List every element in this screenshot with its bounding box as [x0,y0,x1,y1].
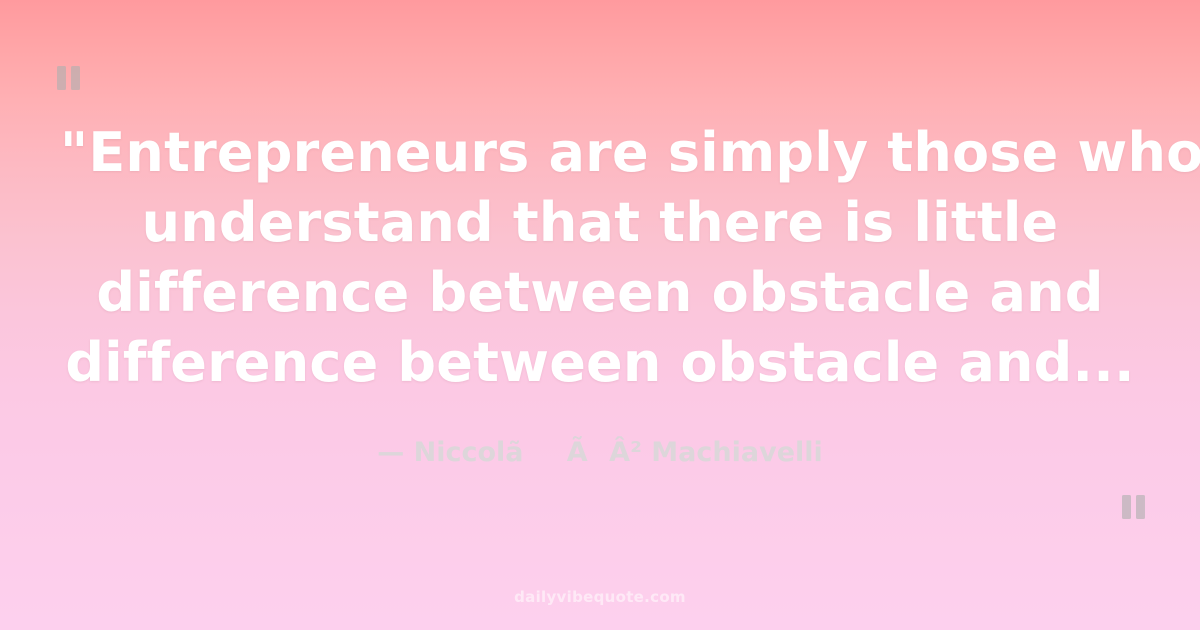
quote-bar-right [71,66,80,90]
quote-bar-left [57,66,66,90]
quote-line-2: understand that there is little [60,188,1140,258]
quote-line-3: difference between obstacle and [60,258,1140,328]
quote-text: "Entrepreneurs are simply those who unde… [60,118,1140,398]
quote-card: "Entrepreneurs are simply those who unde… [0,0,1200,630]
quote-mark-icon-close [1122,495,1145,519]
quote-line-4: difference between obstacle and... [60,328,1140,398]
quote-bar-right [1136,495,1145,519]
quote-attribution: — NiccolãÃÂ² Machiavelli [0,436,1200,470]
quote-line-1: "Entrepreneurs are simply those who [60,118,1140,188]
site-watermark: dailyvibequote.com [0,588,1200,606]
quote-mark-icon-open [57,66,80,90]
quote-bar-left [1122,495,1131,519]
